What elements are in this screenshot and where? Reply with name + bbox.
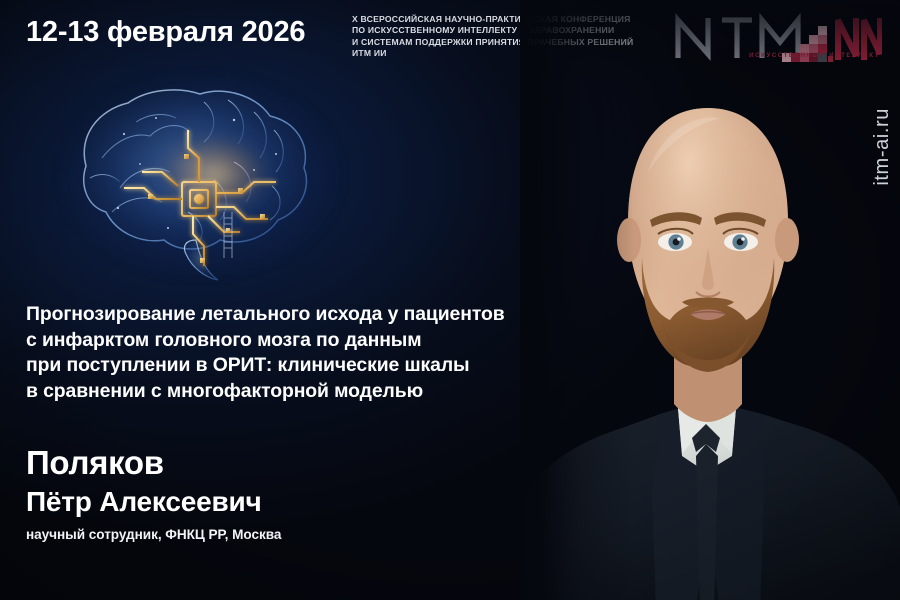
talk-title-line-2: с инфарктом головного мозга по данным bbox=[26, 328, 571, 354]
conference-title-line-3: И СИСТЕМАМ ПОДДЕРЖКИ ПРИНЯТИЯ ВРАЧЕБНЫХ … bbox=[352, 37, 652, 48]
talk-title-line-4: в сравнении с многофакторной моделью bbox=[26, 379, 571, 405]
event-date: 12-13 февраля 2026 bbox=[26, 16, 305, 49]
conference-title-block: X ВСЕРОССИЙСКАЯ НАУЧНО-ПРАКТИЧЕСКАЯ КОНФ… bbox=[352, 14, 652, 60]
talk-title-line-1: Прогнозирование летального исхода у паци… bbox=[26, 302, 571, 328]
talk-title: Прогнозирование летального исхода у паци… bbox=[26, 302, 571, 404]
conference-announcement-poster: 12-13 февраля 2026 X ВСЕРОССИЙСКАЯ НАУЧН… bbox=[0, 0, 900, 600]
talk-title-line-3: при поступлении в ОРИТ: клинические шкал… bbox=[26, 353, 571, 379]
conference-title-line-1: X ВСЕРОССИЙСКАЯ НАУЧНО-ПРАКТИЧЕСКАЯ КОНФ… bbox=[352, 14, 652, 25]
speaker-affiliation: научный сотрудник, ФНКЦ РР, Москва bbox=[26, 527, 281, 542]
itm-ai-logo[interactable] bbox=[670, 10, 882, 72]
conference-title-line-2: ПО ИСКУССТВЕННОМУ ИНТЕЛЛЕКТУ В ЗДРАВОХРА… bbox=[352, 25, 652, 36]
conference-title-line-4: ИТМ ИИ bbox=[352, 48, 652, 59]
speaker-surname: Поляков bbox=[26, 444, 164, 482]
logo-subtitle: ИСКУССТВЕННЫЙ ИНТЕЛЛЕКТ bbox=[730, 52, 880, 59]
website-url[interactable]: itm-ai.ru bbox=[871, 108, 894, 186]
speaker-given-name: Пётр Алексеевич bbox=[26, 486, 262, 518]
